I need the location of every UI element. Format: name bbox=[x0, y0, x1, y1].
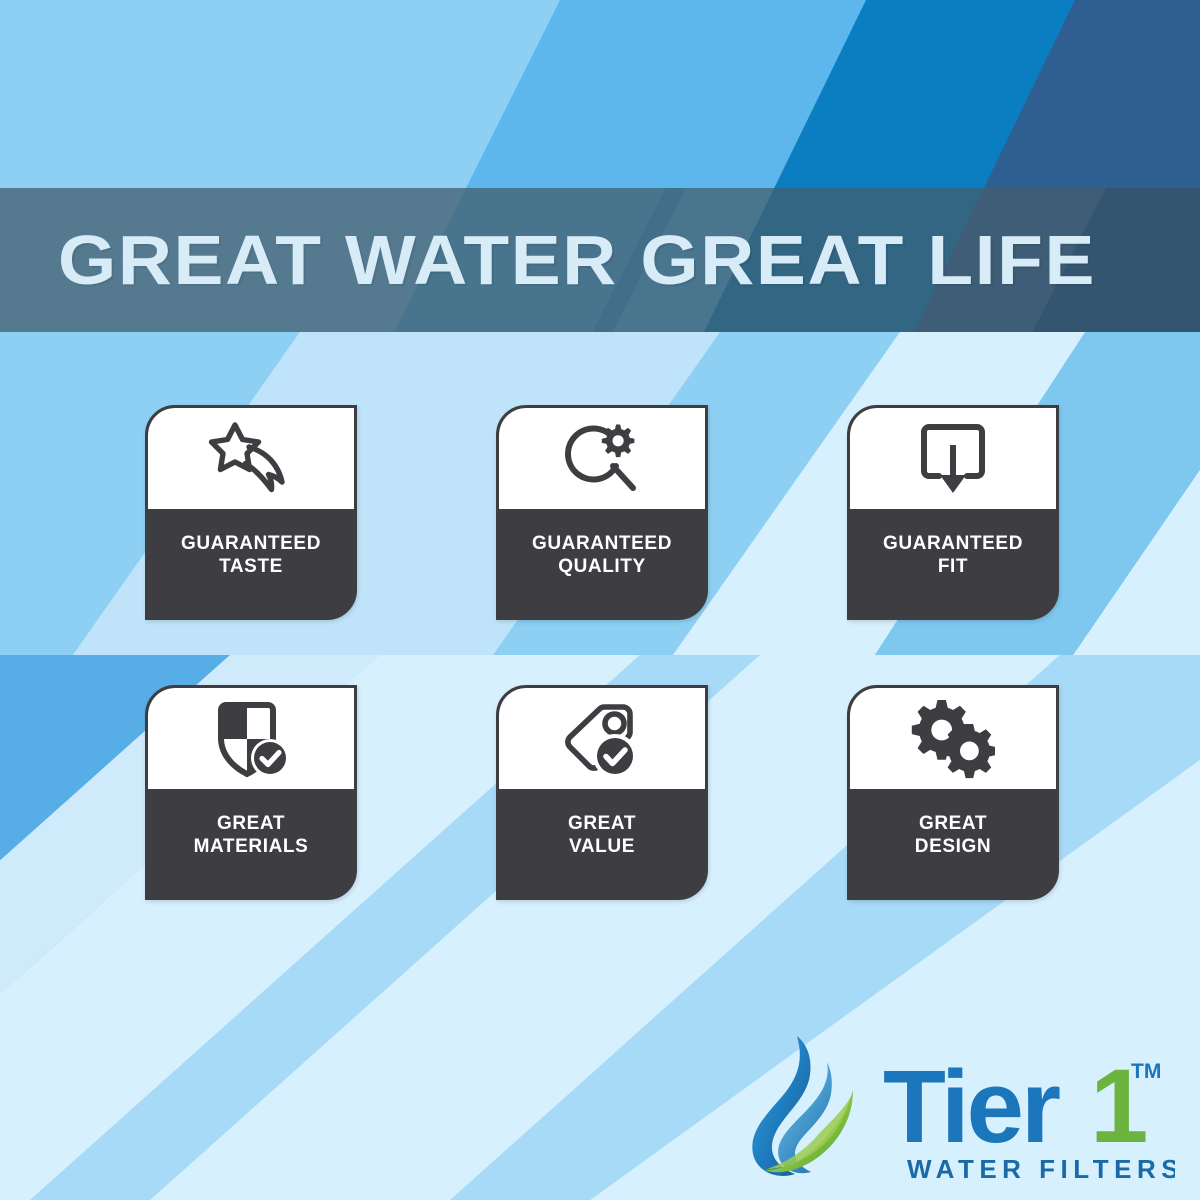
badge-label-line2: QUALITY bbox=[558, 555, 646, 578]
badge-label-line1: GUARANTEED bbox=[883, 532, 1023, 555]
price-tag-check-icon bbox=[499, 688, 705, 789]
badge-label: GREAT DESIGN bbox=[850, 789, 1056, 897]
badge-label-line2: MATERIALS bbox=[194, 835, 309, 858]
insert-box-arrow-icon bbox=[850, 408, 1056, 509]
feature-badge-grid: GUARANTEED TASTE GUARANTEE bbox=[145, 405, 1063, 900]
page-title: GREAT WATER GREAT LIFE bbox=[58, 225, 1096, 295]
logo-trademark: TM bbox=[1131, 1060, 1161, 1083]
badge-great-value[interactable]: GREAT VALUE bbox=[496, 685, 708, 900]
badge-great-design[interactable]: GREAT DESIGN bbox=[847, 685, 1059, 900]
tier1-logo: Tier 1 TM WATER FILTERS bbox=[735, 1030, 1175, 1190]
badge-label-line1: GREAT bbox=[568, 812, 636, 835]
badge-label: GUARANTEED TASTE bbox=[148, 509, 354, 617]
badge-label: GUARANTEED FIT bbox=[850, 509, 1056, 617]
badge-guaranteed-fit[interactable]: GUARANTEED FIT bbox=[847, 405, 1059, 620]
badge-label: GREAT VALUE bbox=[499, 789, 705, 897]
badge-great-materials[interactable]: GREAT MATERIALS bbox=[145, 685, 357, 900]
logo-wordmark: Tier bbox=[883, 1049, 1060, 1164]
flame-droplet-mark bbox=[752, 1036, 853, 1176]
badge-label-line1: GUARANTEED bbox=[181, 532, 321, 555]
badge-label: GUARANTEED QUALITY bbox=[499, 509, 705, 617]
badge-label-line2: DESIGN bbox=[915, 835, 991, 858]
badge-guaranteed-quality[interactable]: GUARANTEED QUALITY bbox=[496, 405, 708, 620]
badge-label-line1: GUARANTEED bbox=[532, 532, 672, 555]
badge-label-line2: FIT bbox=[938, 555, 968, 578]
badge-label-line1: GREAT bbox=[217, 812, 285, 835]
shield-check-icon bbox=[148, 688, 354, 789]
badge-label-line2: TASTE bbox=[219, 555, 283, 578]
promo-graphic: GREAT WATER GREAT LIFE GUARANTEED TASTE bbox=[0, 0, 1200, 1200]
shooting-star-icon bbox=[148, 408, 354, 509]
badge-label: GREAT MATERIALS bbox=[148, 789, 354, 897]
logo-tagline: WATER FILTERS bbox=[907, 1154, 1175, 1184]
badge-label-line1: GREAT bbox=[919, 812, 987, 835]
gears-icon bbox=[850, 688, 1056, 789]
headline-banner: GREAT WATER GREAT LIFE bbox=[0, 188, 1200, 332]
badge-guaranteed-taste[interactable]: GUARANTEED TASTE bbox=[145, 405, 357, 620]
badge-label-line2: VALUE bbox=[569, 835, 635, 858]
magnifier-gear-icon bbox=[499, 408, 705, 509]
